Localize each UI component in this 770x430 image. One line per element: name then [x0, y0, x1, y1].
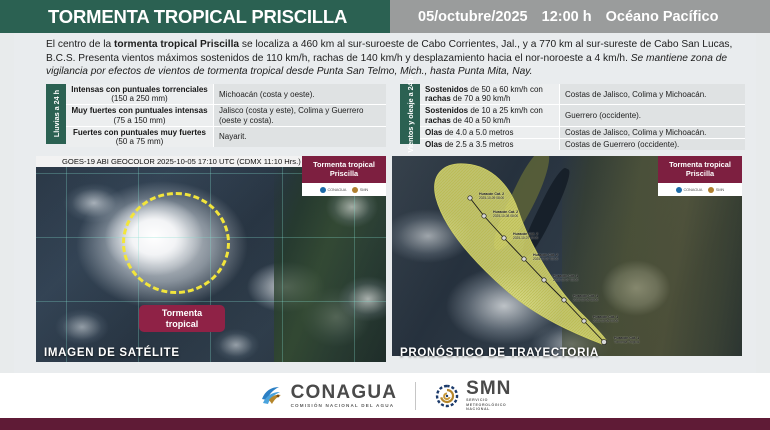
conagua-mini-logo: CONAGUA	[320, 187, 346, 193]
smn-mini-logo: SMN	[352, 187, 368, 193]
wind-desc-cell: Olas de 4.0 a 5.0 metros	[420, 127, 560, 139]
trajectory-caption: PRONÓSTICO DE TRAYECTORIA	[400, 347, 599, 359]
wind-areas-3: Costas de Guerrero (occidente).	[560, 139, 745, 150]
storm-badge-line1: Tormenta tropical	[304, 160, 384, 169]
summary-part-1: El centro de la	[46, 39, 114, 50]
smn-mark-icon	[708, 187, 714, 193]
smn-mini-label: SMN	[716, 187, 724, 192]
conagua-eagle-water-icon	[259, 383, 285, 409]
storm-badge-logos: CONAGUA SMN	[302, 183, 386, 196]
rain-side-line2: a 24 h	[52, 90, 61, 110]
table-row: Intensas con puntuales torrenciales(150 …	[66, 84, 386, 105]
storm-tag-line2: tropical	[166, 319, 199, 330]
smn-spiral-icon	[434, 383, 460, 409]
rain-table-rows: Intensas con puntuales torrenciales(150 …	[66, 84, 386, 144]
footer-accent-bar	[0, 418, 770, 430]
table-row: Olas de 2.5 a 3.5 metros Costas de Guerr…	[420, 139, 745, 150]
wind-desc-cell: Sostenidos de 50 a 60 km/h con rachas de…	[420, 84, 560, 105]
rain-areas-1: Jalisco (costa y este), Colima y Guerrer…	[214, 105, 386, 126]
rain-table-side-label: Lluvias a 24 h	[46, 84, 66, 144]
wind-side-line2: a 24 h	[406, 76, 415, 96]
conagua-mini-label: CONAGUA	[683, 187, 702, 192]
table-row: Fuertes con puntuales muy fuertes(50 a 7…	[66, 127, 386, 147]
table-row: Olas de 4.0 a 5.0 metros Costas de Jalis…	[420, 127, 745, 139]
wind-areas-2: Costas de Jalisco, Colima y Michoacán.	[560, 127, 745, 139]
header-title-block: TORMENTA TROPICAL PRISCILLA	[0, 0, 390, 33]
wind-kind2-1: rachas	[425, 116, 451, 125]
storm-tag-line1: Tormenta	[162, 308, 202, 319]
wind-areas-1: Guerrero (occidente).	[560, 105, 745, 126]
rain-areas-0: Michoacán (costa y oeste).	[214, 84, 386, 105]
rain-intensity-cell: Intensas con puntuales torrenciales(150 …	[66, 84, 214, 105]
smn-mark-icon	[352, 187, 358, 193]
wind-areas-0: Costas de Jalisco, Colima y Michoacán.	[560, 84, 745, 105]
storm-name-inline: tormenta tropical Priscilla	[114, 39, 239, 50]
header-date: 05/octubre/2025	[418, 9, 528, 25]
conagua-mini-logo: CONAGUA	[676, 187, 702, 193]
header-basin: Océano Pacífico	[606, 9, 719, 25]
storm-type-tag: Tormenta tropical	[139, 305, 225, 332]
satellite-caption: IMAGEN DE SATÉLITE	[44, 347, 180, 359]
table-row: Muy fuertes con puntuales intensas(75 a …	[66, 105, 386, 126]
storm-badge-line2: Priscilla	[304, 169, 384, 178]
conagua-mark-icon	[320, 187, 326, 193]
smn-name: SMN	[466, 379, 511, 398]
storm-badge: Tormenta tropical Priscilla CONAGUA SMN	[302, 156, 386, 196]
rain-intensity-1: Muy fuertes con puntuales intensas	[71, 106, 207, 115]
wind-desc1-0: de 50 a 60 km/h con	[468, 85, 543, 94]
table-row: Sostenidos de 50 a 60 km/h con rachas de…	[420, 84, 745, 105]
rain-side-line1: Lluvias	[52, 113, 61, 138]
rain-intensity-cell: Muy fuertes con puntuales intensas(75 a …	[66, 105, 214, 126]
rain-range-2: (50 a 75 mm)	[116, 137, 164, 146]
page-header: TORMENTA TROPICAL PRISCILLA 05/octubre/2…	[0, 0, 770, 33]
wind-desc1-2: de 4.0 a 5.0 metros	[442, 128, 513, 137]
hazard-tables: Lluvias a 24 h Intensas con puntuales to…	[0, 84, 770, 146]
satellite-panel: GOES-19 ABI GEOCOLOR 2025-10-05 17:10 UT…	[36, 156, 386, 362]
storm-badge-title: Tormenta tropical Priscilla	[658, 156, 742, 183]
storm-badge-logos: CONAGUA SMN	[658, 183, 742, 196]
conagua-subtitle: COMISIÓN NACIONAL DEL AGUA	[291, 402, 398, 409]
wind-table-rows: Sostenidos de 50 a 60 km/h con rachas de…	[420, 84, 745, 144]
wind-desc-cell: Sostenidos de 10 a 25 km/h con rachas de…	[420, 105, 560, 126]
wind-table-side-label: Vientos y oleaje a 24 h	[400, 84, 420, 144]
conagua-wordmark: CONAGUA COMISIÓN NACIONAL DEL AGUA	[291, 383, 398, 409]
wind-desc1-1: de 10 a 25 km/h con	[468, 106, 543, 115]
trajectory-panel: Huracán Cat. 1 Tormenta Tropical Huracán…	[392, 156, 742, 362]
wind-table: Vientos y oleaje a 24 h Sostenidos de 50…	[400, 84, 745, 144]
smn-mini-label: SMN	[360, 187, 368, 192]
wind-desc1-3: de 2.5 a 3.5 metros	[442, 140, 513, 149]
conagua-mark-icon	[676, 187, 682, 193]
wind-kind-1: Sostenidos	[425, 106, 468, 115]
smn-logo: SMN SERVICIO METEOROLÓGICO NACIONAL	[434, 379, 511, 411]
smn-subtitle-l3: NACIONAL	[466, 407, 511, 411]
conagua-logo: CONAGUA COMISIÓN NACIONAL DEL AGUA	[259, 383, 398, 409]
rain-range-1: (75 a 150 mm)	[113, 116, 165, 125]
rain-intensity-cell: Fuertes con puntuales muy fuertes(50 a 7…	[66, 127, 214, 147]
storm-center-circle-icon	[122, 192, 230, 294]
smn-wordmark: SMN SERVICIO METEOROLÓGICO NACIONAL	[466, 379, 511, 411]
rain-intensity-2: Fuertes con puntuales muy fuertes	[73, 128, 206, 137]
wind-desc2-0: de 70 a 90 km/h	[451, 94, 511, 103]
rain-table: Lluvias a 24 h Intensas con puntuales to…	[46, 84, 386, 144]
storm-badge-title: Tormenta tropical Priscilla	[302, 156, 386, 183]
rain-intensity-0: Intensas con puntuales torrenciales	[71, 85, 207, 94]
storm-badge-line1: Tormenta tropical	[660, 160, 740, 169]
table-row: Sostenidos de 10 a 25 km/h con rachas de…	[420, 105, 745, 126]
storm-badge: Tormenta tropical Priscilla CONAGUA SMN	[658, 156, 742, 196]
wind-kind-0: Sostenidos	[425, 85, 468, 94]
rain-range-0: (150 a 250 mm)	[111, 94, 167, 103]
wind-desc2-1: de 40 a 50 km/h	[451, 116, 511, 125]
header-meta-block: 05/octubre/2025 12:00 h Océano Pacífico	[390, 0, 770, 33]
wind-kind2-0: rachas	[425, 94, 451, 103]
wind-desc-cell: Olas de 2.5 a 3.5 metros	[420, 139, 560, 150]
wind-side-line1: Vientos y oleaje	[406, 98, 415, 152]
page-title: TORMENTA TROPICAL PRISCILLA	[0, 6, 347, 28]
infographic-page: TORMENTA TROPICAL PRISCILLA 05/octubre/2…	[0, 0, 770, 430]
conagua-name: CONAGUA	[291, 383, 398, 402]
conagua-mini-label: CONAGUA	[327, 187, 346, 192]
wind-kind-3: Olas	[425, 140, 442, 149]
smn-mini-logo: SMN	[708, 187, 724, 193]
header-time: 12:00 h	[542, 9, 592, 25]
page-footer: CONAGUA COMISIÓN NACIONAL DEL AGUA SMN S…	[0, 373, 770, 418]
summary-paragraph: El centro de la tormenta tropical Prisci…	[46, 38, 736, 79]
footer-divider	[415, 382, 416, 410]
wind-kind-2: Olas	[425, 128, 442, 137]
storm-badge-line2: Priscilla	[660, 169, 740, 178]
rain-areas-2: Nayarit.	[214, 127, 386, 147]
